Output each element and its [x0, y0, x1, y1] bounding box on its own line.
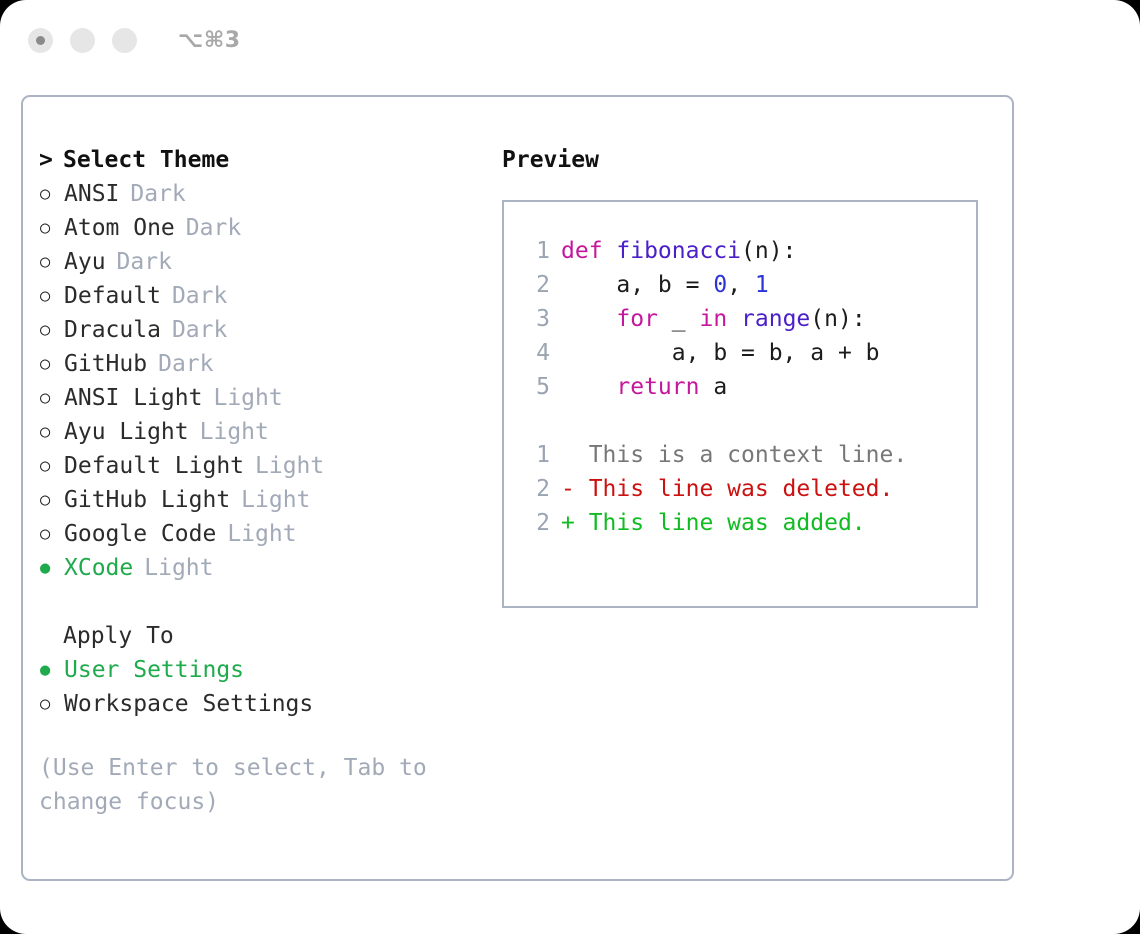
radio-unselected-icon[interactable]: ○ [39, 220, 64, 237]
keyboard-hint-text: (Use Enter to select, Tab to change focu… [39, 751, 439, 819]
apply-to-header: ○ Apply To [39, 619, 489, 653]
radio-unselected-icon[interactable]: ○ [39, 696, 64, 713]
theme-option-name: Atom One [64, 215, 175, 241]
theme-options-list: ○ANSIDark○Atom OneDark○AyuDark○DefaultDa… [39, 177, 489, 585]
radio-unselected-icon[interactable]: ○ [39, 492, 64, 509]
apply-to-marker-placeholder: ○ [39, 625, 63, 648]
theme-option-tag: Dark [172, 317, 227, 343]
radio-unselected-icon[interactable]: ○ [39, 356, 64, 373]
radio-unselected-icon[interactable]: ○ [39, 390, 64, 407]
window-dot-2[interactable] [70, 28, 95, 53]
radio-unselected-icon[interactable]: ○ [39, 424, 64, 441]
apply-to-option-label: Workspace Settings [64, 691, 313, 717]
theme-option-tag: Light [200, 419, 269, 445]
diff-line: 2+ This line was added. [522, 510, 976, 544]
theme-option-name: Dracula [64, 317, 161, 343]
theme-option-name: Ayu Light [64, 419, 189, 445]
window-dot-3[interactable] [112, 28, 137, 53]
theme-option-row[interactable]: ○DraculaDark [39, 313, 489, 347]
code-token-kw: def [561, 238, 616, 264]
apply-to-option-label: User Settings [64, 657, 244, 683]
theme-list-column: > Select Theme ○ANSIDark○Atom OneDark○Ay… [39, 143, 489, 819]
theme-option-name: GitHub Light [64, 487, 230, 513]
code-line: 4 a, b = b, a + b [522, 340, 976, 374]
theme-option-tag: Dark [172, 283, 227, 309]
theme-option-name: XCode [64, 555, 133, 581]
theme-option-row[interactable]: ○DefaultDark [39, 279, 489, 313]
radio-unselected-icon[interactable]: ○ [39, 288, 64, 305]
code-token-plain: a, b = [561, 272, 713, 298]
preview-box: 1def fibonacci(n):2 a, b = 0, 13 for _ i… [502, 200, 978, 608]
window-controls [28, 28, 137, 53]
title-bar: ⌥⌘3 [0, 0, 1140, 80]
theme-option-tag: Light [144, 555, 213, 581]
preview-title: Preview [502, 143, 992, 177]
theme-option-tag: Dark [186, 215, 241, 241]
theme-option-row[interactable]: ○AyuDark [39, 245, 489, 279]
radio-unselected-icon[interactable]: ○ [39, 458, 64, 475]
theme-option-tag: Light [255, 453, 324, 479]
apply-to-title: Apply To [63, 623, 174, 649]
apply-to-options-list: ●User Settings○Workspace Settings [39, 653, 489, 721]
theme-option-name: Ayu [64, 249, 106, 275]
theme-option-row[interactable]: ○GitHub LightLight [39, 483, 489, 517]
radio-unselected-icon[interactable]: ○ [39, 322, 64, 339]
radio-selected-icon[interactable]: ● [39, 560, 64, 577]
theme-option-row[interactable]: ○Google CodeLight [39, 517, 489, 551]
preview-column: Preview 1def fibonacci(n):2 a, b = 0, 13… [502, 143, 992, 608]
code-token-add: + This line was added. [561, 510, 866, 536]
theme-option-row[interactable]: ○GitHubDark [39, 347, 489, 381]
line-number: 5 [522, 374, 550, 400]
line-number: 2 [522, 476, 550, 502]
code-token-fn: fibonacci [616, 238, 741, 264]
line-number: 1 [522, 238, 550, 264]
code-line: 1def fibonacci(n): [522, 238, 976, 272]
list-gap [39, 585, 489, 619]
code-line: 3 for _ in range(n): [522, 306, 976, 340]
radio-unselected-icon[interactable]: ○ [39, 186, 64, 203]
caret-icon: > [39, 149, 63, 172]
theme-option-row[interactable]: ○Ayu LightLight [39, 415, 489, 449]
theme-option-tag: Dark [158, 351, 213, 377]
theme-option-tag: Dark [130, 181, 185, 207]
app-window: ⌥⌘3 > Select Theme ○ANSIDark○Atom OneDar… [0, 0, 1140, 934]
preview-block-gap [522, 408, 976, 442]
line-number: 2 [522, 510, 550, 536]
line-number: 1 [522, 442, 550, 468]
theme-option-tag: Light [241, 487, 310, 513]
theme-option-name: ANSI [64, 181, 119, 207]
radio-unselected-icon[interactable]: ○ [39, 254, 64, 271]
code-token-kw: for [616, 306, 658, 332]
radio-unselected-icon[interactable]: ○ [39, 526, 64, 543]
code-token-num: 1 [755, 272, 769, 298]
line-number: 2 [522, 272, 550, 298]
preview-diff-block: 1 This is a context line.2- This line wa… [522, 442, 976, 544]
window-dot-active-indicator [36, 36, 45, 45]
code-token-del: - This line was deleted. [561, 476, 893, 502]
theme-option-row[interactable]: ○Default LightLight [39, 449, 489, 483]
code-token-num: 0 [713, 272, 727, 298]
diff-line: 1 This is a context line. [522, 442, 976, 476]
theme-option-tag: Dark [117, 249, 172, 275]
code-token-plain: _ [658, 306, 700, 332]
code-token-plain: (n): [741, 238, 796, 264]
theme-option-row[interactable]: ●XCodeLight [39, 551, 489, 585]
theme-option-name: GitHub [64, 351, 147, 377]
theme-option-tag: Light [213, 385, 282, 411]
preview-code-block: 1def fibonacci(n):2 a, b = 0, 13 for _ i… [522, 238, 976, 408]
window-dot-active[interactable] [28, 28, 53, 53]
code-token-plain [727, 306, 741, 332]
code-token-plain [561, 306, 616, 332]
code-token-fn: range [741, 306, 810, 332]
theme-option-row[interactable]: ○ANSIDark [39, 177, 489, 211]
code-token-plain: a, b = b, a + b [561, 340, 880, 366]
apply-to-option-row[interactable]: ○Workspace Settings [39, 687, 489, 721]
code-token-plain [561, 374, 616, 400]
select-theme-header: > Select Theme [39, 143, 489, 177]
diff-line: 2- This line was deleted. [522, 476, 976, 510]
theme-option-name: Google Code [64, 521, 216, 547]
code-line: 5 return a [522, 374, 976, 408]
code-token-ctx: This is a context line. [561, 442, 907, 468]
theme-option-name: Default Light [64, 453, 244, 479]
select-theme-title: Select Theme [63, 147, 229, 173]
theme-option-row[interactable]: ○Atom OneDark [39, 211, 489, 245]
code-token-plain: (n): [810, 306, 865, 332]
theme-picker-panel: > Select Theme ○ANSIDark○Atom OneDark○Ay… [21, 95, 1014, 881]
code-token-plain: , [727, 272, 755, 298]
line-number: 4 [522, 340, 550, 366]
code-token-kw: return [616, 374, 699, 400]
theme-option-row[interactable]: ○ANSI LightLight [39, 381, 489, 415]
keyboard-shortcut-label: ⌥⌘3 [178, 28, 241, 53]
theme-option-name: ANSI Light [64, 385, 202, 411]
code-line: 2 a, b = 0, 1 [522, 272, 976, 306]
line-number: 3 [522, 306, 550, 332]
theme-option-tag: Light [227, 521, 296, 547]
theme-option-name: Default [64, 283, 161, 309]
code-token-plain: a [699, 374, 727, 400]
apply-to-option-row[interactable]: ●User Settings [39, 653, 489, 687]
radio-selected-icon[interactable]: ● [39, 662, 64, 679]
code-token-kw: in [699, 306, 727, 332]
